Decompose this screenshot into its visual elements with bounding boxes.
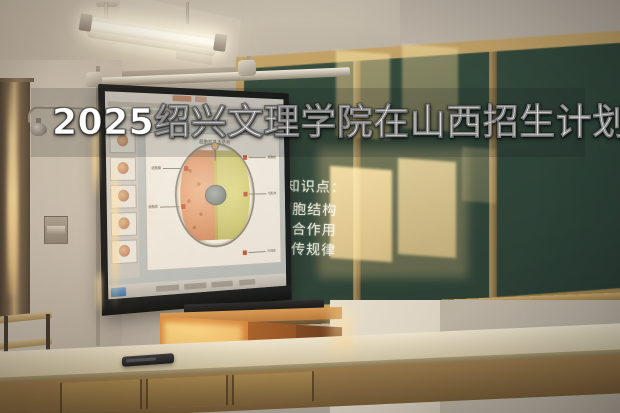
slide-label: 叶绿体 xyxy=(243,249,276,255)
desk-panel xyxy=(146,375,228,409)
page-title: 2025绍兴文理学院在山西招生计划 xyxy=(52,103,620,143)
front-teaching-desk xyxy=(0,352,620,413)
slide-label: 线粒体 xyxy=(244,191,277,196)
slide-thumbnail xyxy=(111,212,137,237)
slide-thumbnail xyxy=(111,239,137,264)
taskbar-start-button xyxy=(111,287,126,297)
slide-thumbnail xyxy=(110,157,136,181)
desk-panel xyxy=(60,379,142,413)
desk-panel xyxy=(232,371,314,405)
wall-mounted-box xyxy=(44,216,68,244)
classroom-photo: 重点知识点： 1. 细胞结构 2. 光合作用 3. 遗传规律 xyxy=(0,0,620,413)
blackboard-divider-2 xyxy=(489,43,497,325)
lamp-cap-left xyxy=(79,13,93,32)
lamp-cap-right xyxy=(213,33,227,52)
curtain-rod xyxy=(0,78,34,82)
light-suspension-rod-2 xyxy=(186,2,189,24)
slide-label: 细胞质 xyxy=(148,204,185,210)
wall-box-face xyxy=(47,226,65,234)
slide-label: 细胞膜 xyxy=(151,166,188,171)
screen-roller-right xyxy=(238,60,257,77)
curtain-light-gap xyxy=(8,86,16,296)
slide-thumbnail xyxy=(110,185,136,209)
